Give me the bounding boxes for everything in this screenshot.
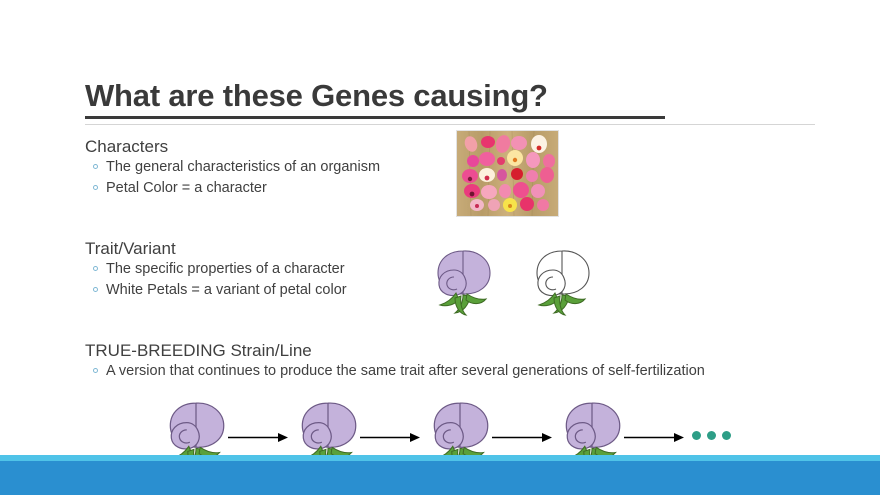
- bullet-circle-icon: [93, 164, 98, 169]
- title-divider-line: [85, 124, 815, 125]
- section-characters: Characters The general characteristics o…: [85, 136, 380, 199]
- list-item: A version that continues to produce the …: [85, 361, 810, 381]
- purple-pea-flower-illustration: [430, 246, 496, 323]
- purple-flower-image: [430, 246, 496, 318]
- right-arrow-icon-2: [360, 430, 420, 441]
- ellipsis-dots-icon: [692, 431, 731, 440]
- bullet-circle-icon: [93, 368, 98, 373]
- right-arrow-image: [492, 432, 552, 443]
- petal-photo-image: [457, 131, 558, 216]
- bullet-circle-icon: [93, 185, 98, 190]
- list-item-label: A version that continues to produce the …: [106, 363, 705, 379]
- dot: [722, 431, 731, 440]
- list-item: The general characteristics of an organi…: [85, 157, 380, 178]
- right-arrow-icon-3: [492, 430, 552, 441]
- section-heading: TRUE-BREEDING Strain/Line: [85, 340, 810, 361]
- right-arrow-image: [624, 432, 684, 443]
- white-flower-image: [529, 246, 595, 318]
- list-item-label: The general characteristics of an organi…: [106, 159, 380, 175]
- bullet-list: The general characteristics of an organi…: [85, 157, 380, 199]
- right-arrow-icon-1: [228, 430, 288, 441]
- footer-bar: [0, 461, 880, 495]
- petal-photo: [456, 130, 559, 217]
- section-trait-variant: Trait/Variant The specific properties of…: [85, 238, 347, 301]
- dot: [692, 431, 701, 440]
- right-arrow-image: [228, 432, 288, 443]
- dot: [707, 431, 716, 440]
- bullet-circle-icon: [93, 266, 98, 271]
- right-arrow-icon-4: [624, 430, 684, 441]
- list-item: White Petals = a variant of petal color: [85, 280, 347, 301]
- list-item-label: Petal Color = a character: [106, 180, 267, 196]
- list-item: Petal Color = a character: [85, 178, 380, 199]
- page-title: What are these Genes causing?: [85, 78, 548, 114]
- list-item-label: The specific properties of a character: [106, 261, 345, 277]
- title-underline: [85, 116, 665, 119]
- bullet-list: A version that continues to produce the …: [85, 361, 810, 381]
- section-heading: Characters: [85, 136, 380, 157]
- bullet-list: The specific properties of a character W…: [85, 259, 347, 301]
- list-item-label: White Petals = a variant of petal color: [106, 282, 347, 298]
- slide-canvas: What are these Genes causing? Characters…: [0, 0, 880, 495]
- bullet-circle-icon: [93, 287, 98, 292]
- list-item: The specific properties of a character: [85, 259, 347, 280]
- section-heading: Trait/Variant: [85, 238, 347, 259]
- white-pea-flower-illustration: [529, 246, 595, 323]
- right-arrow-image: [360, 432, 420, 443]
- section-true-breeding: TRUE-BREEDING Strain/Line A version that…: [85, 340, 810, 381]
